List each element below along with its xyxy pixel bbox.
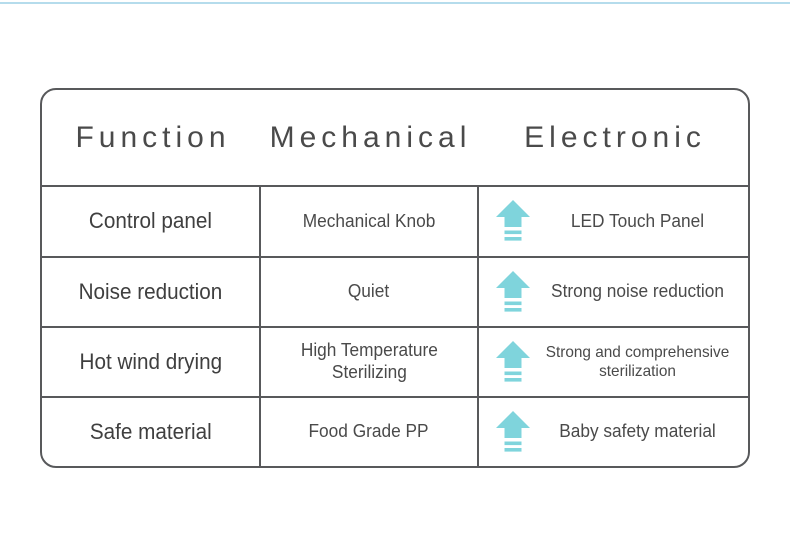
feature-cell: Noise reduction [42, 258, 259, 326]
mechanical-label: High TemperatureSterilizing [300, 340, 437, 384]
feature-cell: Hot wind drying [42, 328, 259, 396]
table-row: Hot wind drying High TemperatureSteriliz… [42, 326, 748, 396]
electronic-cell: Strong noise reduction [477, 258, 748, 326]
header-cell-electronic: Electronic [477, 90, 748, 185]
feature-label: Control panel [89, 208, 212, 234]
feature-label: Noise reduction [79, 279, 223, 305]
comparison-table: Function Mechanical Electronic Control p… [40, 88, 750, 468]
table-header-row: Function Mechanical Electronic [42, 90, 748, 185]
top-accent-rule [0, 2, 790, 4]
header-label-mechanical: Mechanical [265, 121, 472, 155]
header-label-electronic: Electronic [519, 121, 706, 155]
electronic-label: Strong noise reduction [535, 281, 739, 303]
table-row: Control panel Mechanical Knob LED Touch … [42, 185, 748, 255]
electronic-label: Baby safety material [535, 421, 739, 443]
mechanical-label: Food Grade PP [309, 421, 429, 443]
mechanical-label: Mechanical Knob [303, 211, 436, 233]
feature-label: Hot wind drying [79, 349, 222, 375]
mechanical-label: Quiet [348, 281, 389, 303]
electronic-cell: LED Touch Panel [477, 187, 748, 255]
mechanical-cell: High TemperatureSterilizing [259, 328, 477, 396]
feature-label: Safe material [90, 419, 212, 445]
mechanical-cell: Quiet [259, 258, 477, 326]
up-arrow-icon [495, 340, 531, 384]
electronic-cell: Strong and comprehensivesterilization [477, 328, 748, 396]
up-arrow-icon [495, 410, 531, 454]
feature-cell: Safe material [42, 398, 259, 466]
header-cell-mechanical: Mechanical [259, 90, 477, 185]
mechanical-cell: Mechanical Knob [259, 187, 477, 255]
mechanical-cell: Food Grade PP [259, 398, 477, 466]
electronic-label: LED Touch Panel [535, 211, 739, 233]
up-arrow-icon [495, 270, 531, 314]
up-arrow-icon [495, 199, 531, 243]
electronic-cell: Baby safety material [477, 398, 748, 466]
header-label-function: Function [70, 121, 230, 155]
electronic-label: Strong and comprehensivesterilization [535, 343, 739, 381]
header-cell-function: Function [42, 90, 259, 185]
table-row: Safe material Food Grade PP Baby safety … [42, 396, 748, 466]
feature-cell: Control panel [42, 187, 259, 255]
table-row: Noise reduction Quiet Strong noise reduc… [42, 256, 748, 326]
